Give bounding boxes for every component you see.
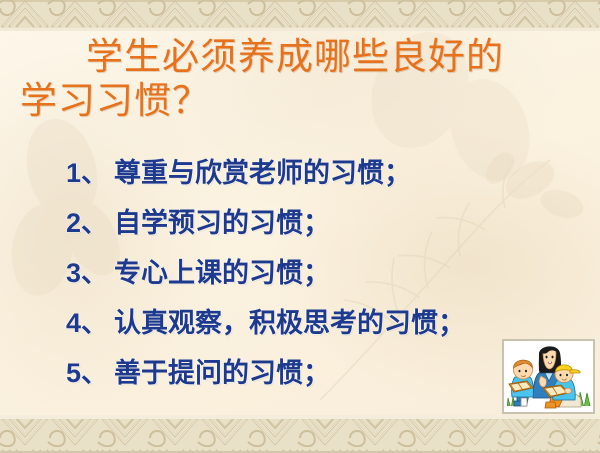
list-item: 3 、 专心上课的习惯；	[0, 248, 600, 298]
list-item-number: 2	[66, 198, 81, 248]
list-item-number: 4	[66, 298, 81, 348]
top-ornament-border	[0, 0, 600, 31]
list-item-separator: 、	[81, 198, 108, 248]
title-line-1: 学生必须养成哪些良好的	[14, 36, 586, 80]
list-item-text: 认真观察，积极思考的习惯；	[108, 298, 465, 348]
list-item-separator: 、	[81, 148, 108, 198]
list-item-separator: 、	[81, 298, 108, 348]
teacher-and-children-clipart	[502, 339, 595, 414]
slide-title: 学生必须养成哪些良好的 学习习惯？	[0, 36, 600, 124]
list-item-separator: 、	[81, 348, 108, 398]
title-line-2: 学习习惯？	[14, 80, 586, 124]
list-item-number: 1	[66, 148, 81, 198]
list-item: 2 、 自学预习的习惯；	[0, 198, 600, 248]
list-item-number: 3	[66, 248, 81, 298]
list-item-text: 自学预习的习惯；	[108, 198, 330, 248]
presentation-slide: 学生必须养成哪些良好的 学习习惯？ 1 、 尊重与欣赏老师的习惯； 2 、 自学…	[0, 0, 600, 453]
list-item-text: 善于提问的习惯；	[108, 348, 330, 398]
list-item: 1 、 尊重与欣赏老师的习惯；	[0, 148, 600, 198]
list-item-number: 5	[66, 348, 81, 398]
list-item-separator: 、	[81, 248, 108, 298]
list-item-text: 尊重与欣赏老师的习惯；	[108, 148, 411, 198]
bottom-ornament-border	[0, 415, 600, 453]
list-item-text: 专心上课的习惯；	[108, 248, 330, 298]
